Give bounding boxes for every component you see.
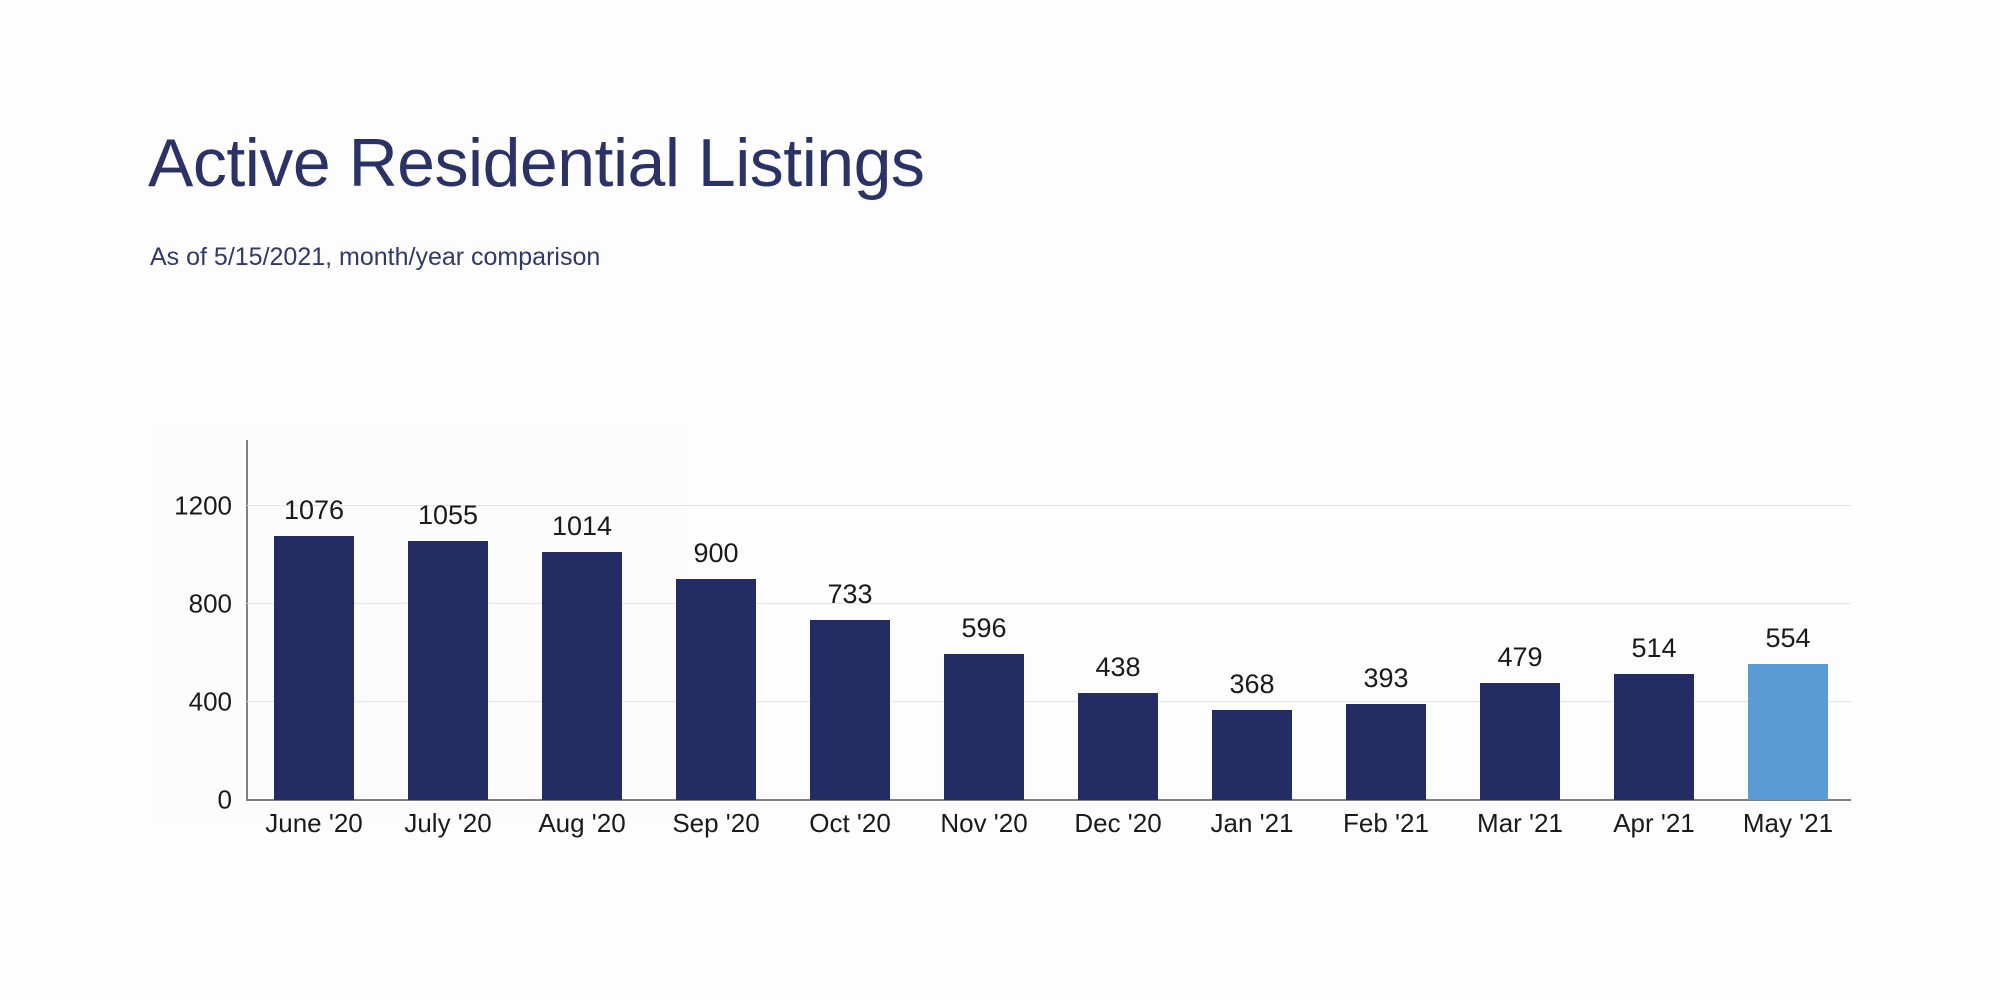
x-tick-label: Oct '20 (783, 808, 917, 839)
page-title: Active Residential Listings (148, 128, 924, 199)
bar-slot: 368 (1185, 440, 1319, 800)
x-tick-label: Feb '21 (1319, 808, 1453, 839)
y-tick-label-1200: 1200 (122, 490, 232, 521)
x-tick-label: Sep '20 (649, 808, 783, 839)
bar-value-label: 900 (649, 538, 783, 569)
x-tick-label: Apr '21 (1587, 808, 1721, 839)
bar-value-label: 733 (783, 579, 917, 610)
bar-slot: 900 (649, 440, 783, 800)
x-tick-label: Jan '21 (1185, 808, 1319, 839)
bar[interactable] (542, 552, 622, 800)
bar[interactable] (1614, 674, 1694, 800)
bar[interactable] (1078, 693, 1158, 800)
x-tick-label: May '21 (1721, 808, 1855, 839)
bar-slot: 554 (1721, 440, 1855, 800)
chart-slide: Active Residential Listings As of 5/15/2… (0, 0, 2000, 1000)
bar-value-label: 368 (1185, 669, 1319, 700)
bar[interactable] (1480, 683, 1560, 800)
bar-value-label: 554 (1721, 623, 1855, 654)
bar-value-label: 1076 (247, 495, 381, 526)
bar-slot: 1014 (515, 440, 649, 800)
bar[interactable] (810, 620, 890, 800)
bar-slot: 514 (1587, 440, 1721, 800)
x-tick-label: Nov '20 (917, 808, 1051, 839)
bar-slot: 1055 (381, 440, 515, 800)
bar[interactable] (1212, 710, 1292, 800)
bar-value-label: 514 (1587, 633, 1721, 664)
bar[interactable] (1748, 664, 1828, 800)
x-tick-label: Mar '21 (1453, 808, 1587, 839)
y-tick-label-400: 400 (122, 686, 232, 717)
bar-value-label: 393 (1319, 663, 1453, 694)
bar-slot: 1076 (247, 440, 381, 800)
bar-value-label: 596 (917, 613, 1051, 644)
bar-slot: 438 (1051, 440, 1185, 800)
x-tick-label: June '20 (247, 808, 381, 839)
y-tick-label-0: 0 (122, 785, 232, 816)
bar-value-label: 1055 (381, 500, 515, 531)
plot-area: 107610551014900733596438368393479514554 (247, 440, 1851, 800)
bar-slot: 393 (1319, 440, 1453, 800)
y-tick-label-800: 800 (122, 588, 232, 619)
bar-slot: 733 (783, 440, 917, 800)
x-tick-label: Aug '20 (515, 808, 649, 839)
chart-subtitle: As of 5/15/2021, month/year comparison (150, 243, 600, 272)
bar-value-label: 438 (1051, 652, 1185, 683)
bar[interactable] (676, 579, 756, 800)
bar-value-label: 1014 (515, 511, 649, 542)
bar-slot: 479 (1453, 440, 1587, 800)
x-axis-tick-labels: June '20July '20Aug '20Sep '20Oct '20Nov… (247, 808, 1851, 852)
y-axis-tick-labels: 04008001200 (112, 440, 232, 800)
x-tick-label: Dec '20 (1051, 808, 1185, 839)
x-tick-label: July '20 (381, 808, 515, 839)
bar[interactable] (408, 541, 488, 800)
bar[interactable] (1346, 704, 1426, 800)
bar[interactable] (944, 654, 1024, 800)
bar-slot: 596 (917, 440, 1051, 800)
bar[interactable] (274, 536, 354, 800)
bar-value-label: 479 (1453, 642, 1587, 673)
